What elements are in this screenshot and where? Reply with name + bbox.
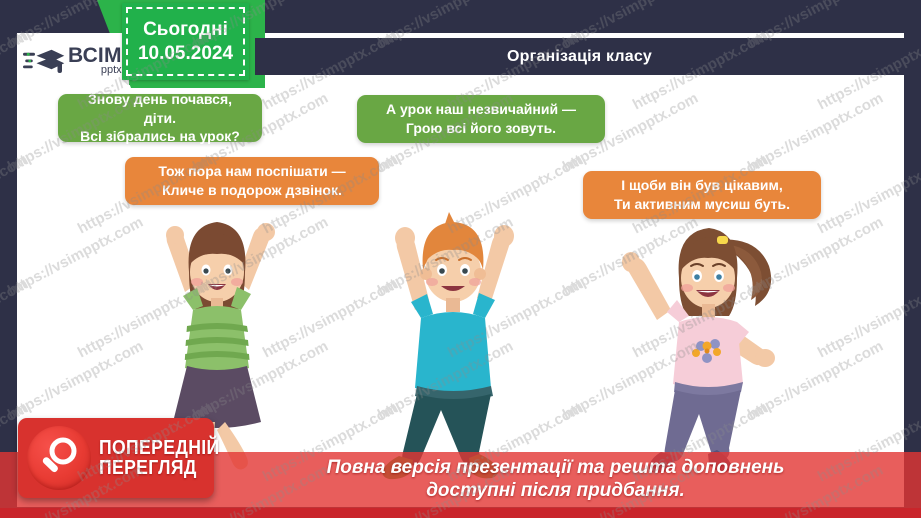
- rhyme-bubble-4: І щоби він був цікавим, Ти активним муси…: [583, 171, 821, 219]
- rhyme-bubble-1: Знову день почався, діти. Всі зібрались …: [58, 94, 262, 142]
- rhyme-line-1: Тож пора нам поспішати —: [158, 162, 345, 181]
- preview-badge-line-1: ПОПЕРЕДНІЙ: [99, 438, 220, 458]
- rhyme-line-2: Кличе в подорож дзвінок.: [162, 181, 342, 200]
- purchase-notice-line-2: доступні після придбання.: [327, 480, 785, 503]
- rhyme-line-2: Грою всі його зовуть.: [406, 119, 556, 138]
- page-title: Організація класу: [507, 48, 652, 66]
- presentation-slide: ВСІМ pptx Сьогодні 10.05.2024 Організаці…: [0, 0, 921, 518]
- brand-logo[interactable]: ВСІМ pptx: [17, 33, 129, 88]
- logo-title: ВСІМ: [68, 45, 122, 66]
- rhyme-line-2: Ти активним мусиш буть.: [614, 195, 790, 214]
- date-badge-label: Сьогодні: [143, 18, 228, 42]
- date-badge-value: 10.05.2024: [138, 42, 233, 66]
- bottom-accent-strip: [0, 508, 921, 518]
- magnifier-icon: [27, 426, 91, 490]
- date-badge: Сьогодні 10.05.2024: [122, 3, 249, 80]
- rhyme-line-2: Всі зібрались на урок?: [80, 127, 240, 146]
- rhyme-line-1: А урок наш незвичайний —: [386, 100, 576, 119]
- preview-badge-line-2: ПЕРЕГЛЯД: [99, 458, 220, 478]
- kid-boy-teal: [383, 212, 514, 479]
- rhyme-line-1: І щоби він був цікавим,: [621, 176, 782, 195]
- slide-header-bar: Організація класу: [255, 38, 904, 75]
- preview-badge[interactable]: ПОПЕРЕДНІЙ ПЕРЕГЛЯД: [18, 418, 214, 498]
- purchase-notice-line-1: Повна версія презентації та решта доповн…: [327, 457, 785, 480]
- rhyme-line-1: Знову день почався, діти.: [72, 90, 248, 128]
- kid-girl-ponytail: [622, 228, 775, 473]
- rhyme-bubble-2: А урок наш незвичайний — Грою всі його з…: [357, 95, 605, 143]
- graduation-cap-icon: [23, 45, 65, 77]
- rhyme-bubble-3: Тож пора нам поспішати — Кличе в подорож…: [125, 157, 379, 205]
